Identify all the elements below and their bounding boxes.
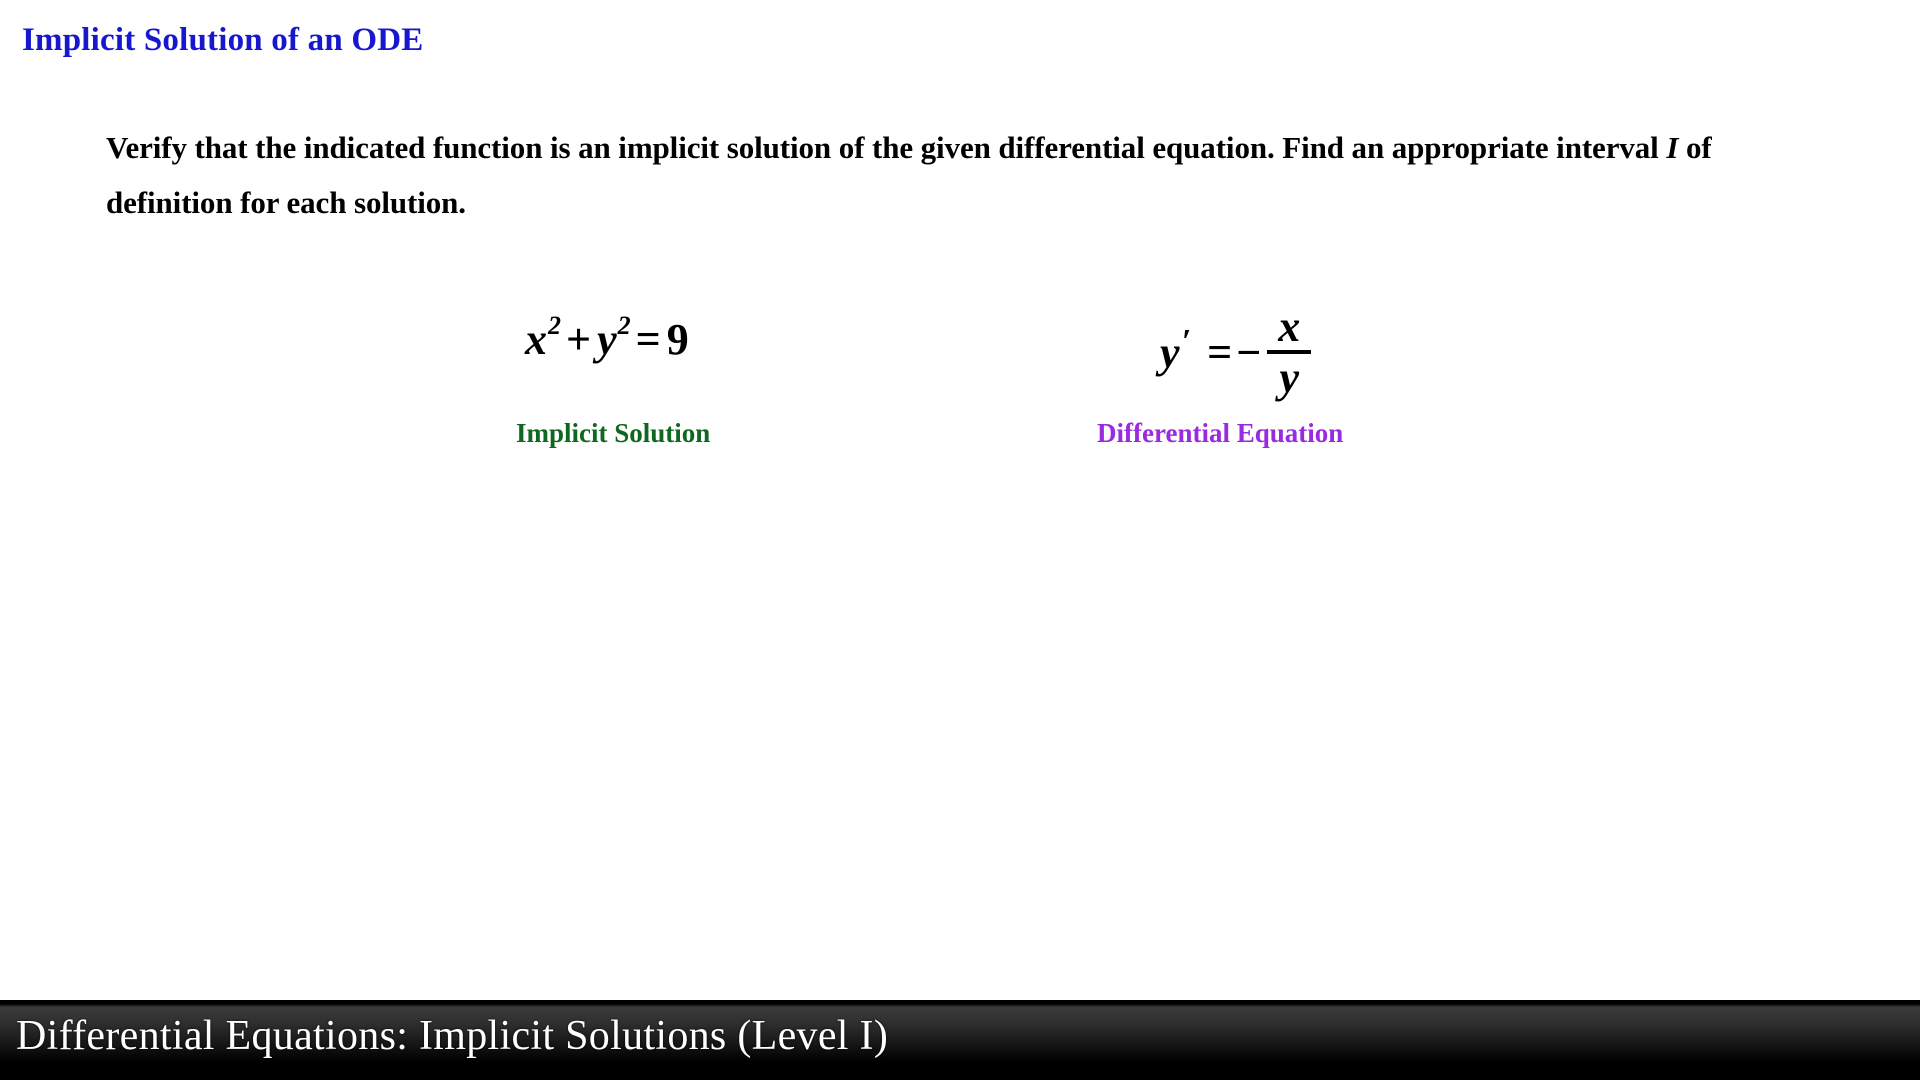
caption-differential-equation: Differential Equation <box>1097 418 1343 449</box>
implicit-exponent-y: 2 <box>618 311 631 340</box>
diff-fraction-denominator: y <box>1273 357 1305 399</box>
bottom-banner: Differential Equations: Implicit Solutio… <box>0 1000 1920 1080</box>
interval-symbol: I <box>1666 130 1678 165</box>
diff-prime-mark: ′ <box>1182 323 1192 361</box>
page-title: Implicit Solution of an ODE <box>22 22 423 59</box>
implicit-plus-operator: + <box>560 315 597 364</box>
implicit-base-y: y <box>597 315 617 364</box>
problem-statement: Verify that the indicated function is an… <box>106 120 1826 230</box>
diff-lhs-y: y <box>1160 327 1180 378</box>
implicit-exponent-x: 2 <box>548 311 561 340</box>
banner-title: Differential Equations: Implicit Solutio… <box>16 1012 888 1060</box>
implicit-equals-operator: = <box>630 315 667 364</box>
diff-fraction-numerator: x <box>1272 306 1306 348</box>
diff-minus-operator: − <box>1236 327 1261 378</box>
equation-implicit-solution: x2+y2=9 <box>525 314 689 365</box>
caption-implicit-solution: Implicit Solution <box>516 418 710 449</box>
equation-differential: y′=−xy <box>1160 306 1311 399</box>
implicit-constant-value: 9 <box>667 315 689 364</box>
diff-equals-operator: = <box>1207 327 1232 378</box>
problem-statement-part-1: Verify that the indicated function is an… <box>106 130 1666 165</box>
implicit-base-x: x <box>525 315 547 364</box>
equations-row: x2+y2=9 y′=−xy <box>0 300 1920 440</box>
diff-fraction: xy <box>1267 306 1311 399</box>
